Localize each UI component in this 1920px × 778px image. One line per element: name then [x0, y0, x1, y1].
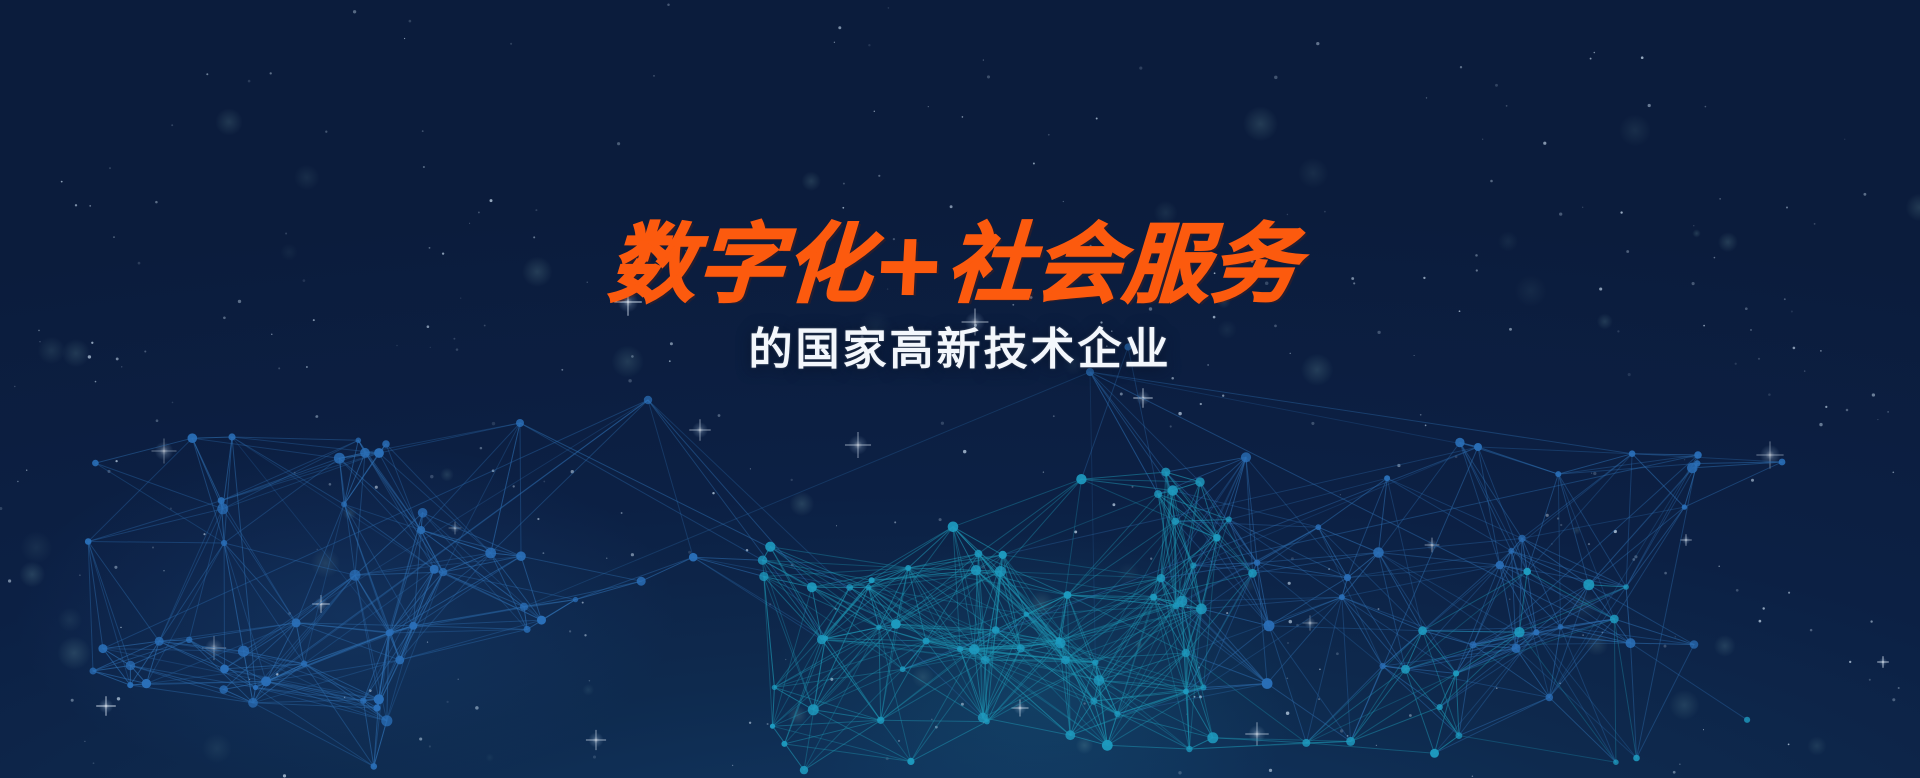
hero-banner: 数字化+社会服务 的国家高新技术企业	[0, 0, 1920, 778]
hero-text-block: 数字化+社会服务 的国家高新技术企业	[0, 0, 1920, 374]
page-subtitle: 的国家高新技术企业	[0, 310, 1920, 374]
page-title: 数字化+社会服务	[0, 0, 1920, 310]
